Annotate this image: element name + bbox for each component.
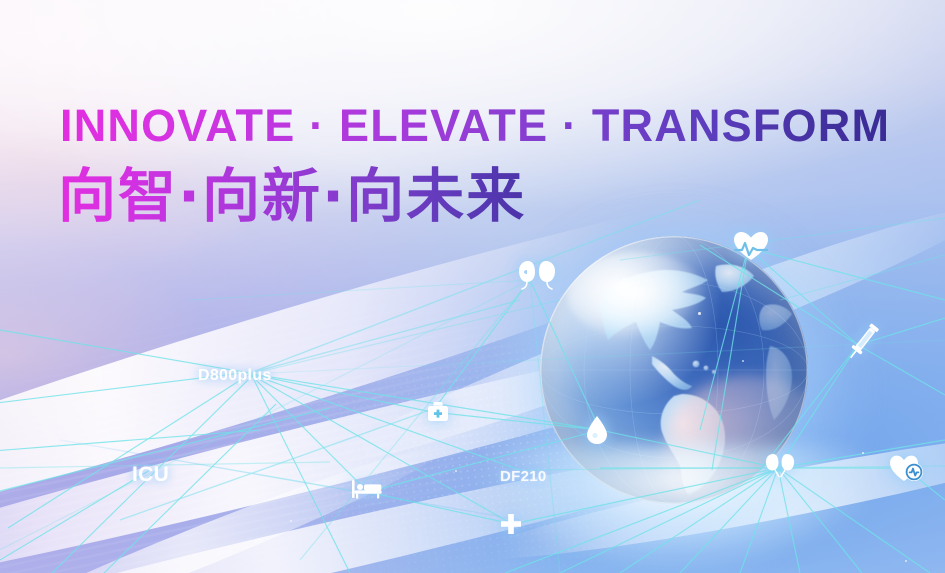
background-white-highlight xyxy=(0,0,945,573)
hero-banner: D800plus ICU DF210 INNOVATE · ELEVATE · … xyxy=(0,0,945,573)
headline-chinese: 向智·向新·向未来 xyxy=(58,166,526,227)
headline-english: INNOVATE · ELEVATE · TRANSFORM xyxy=(60,103,890,148)
